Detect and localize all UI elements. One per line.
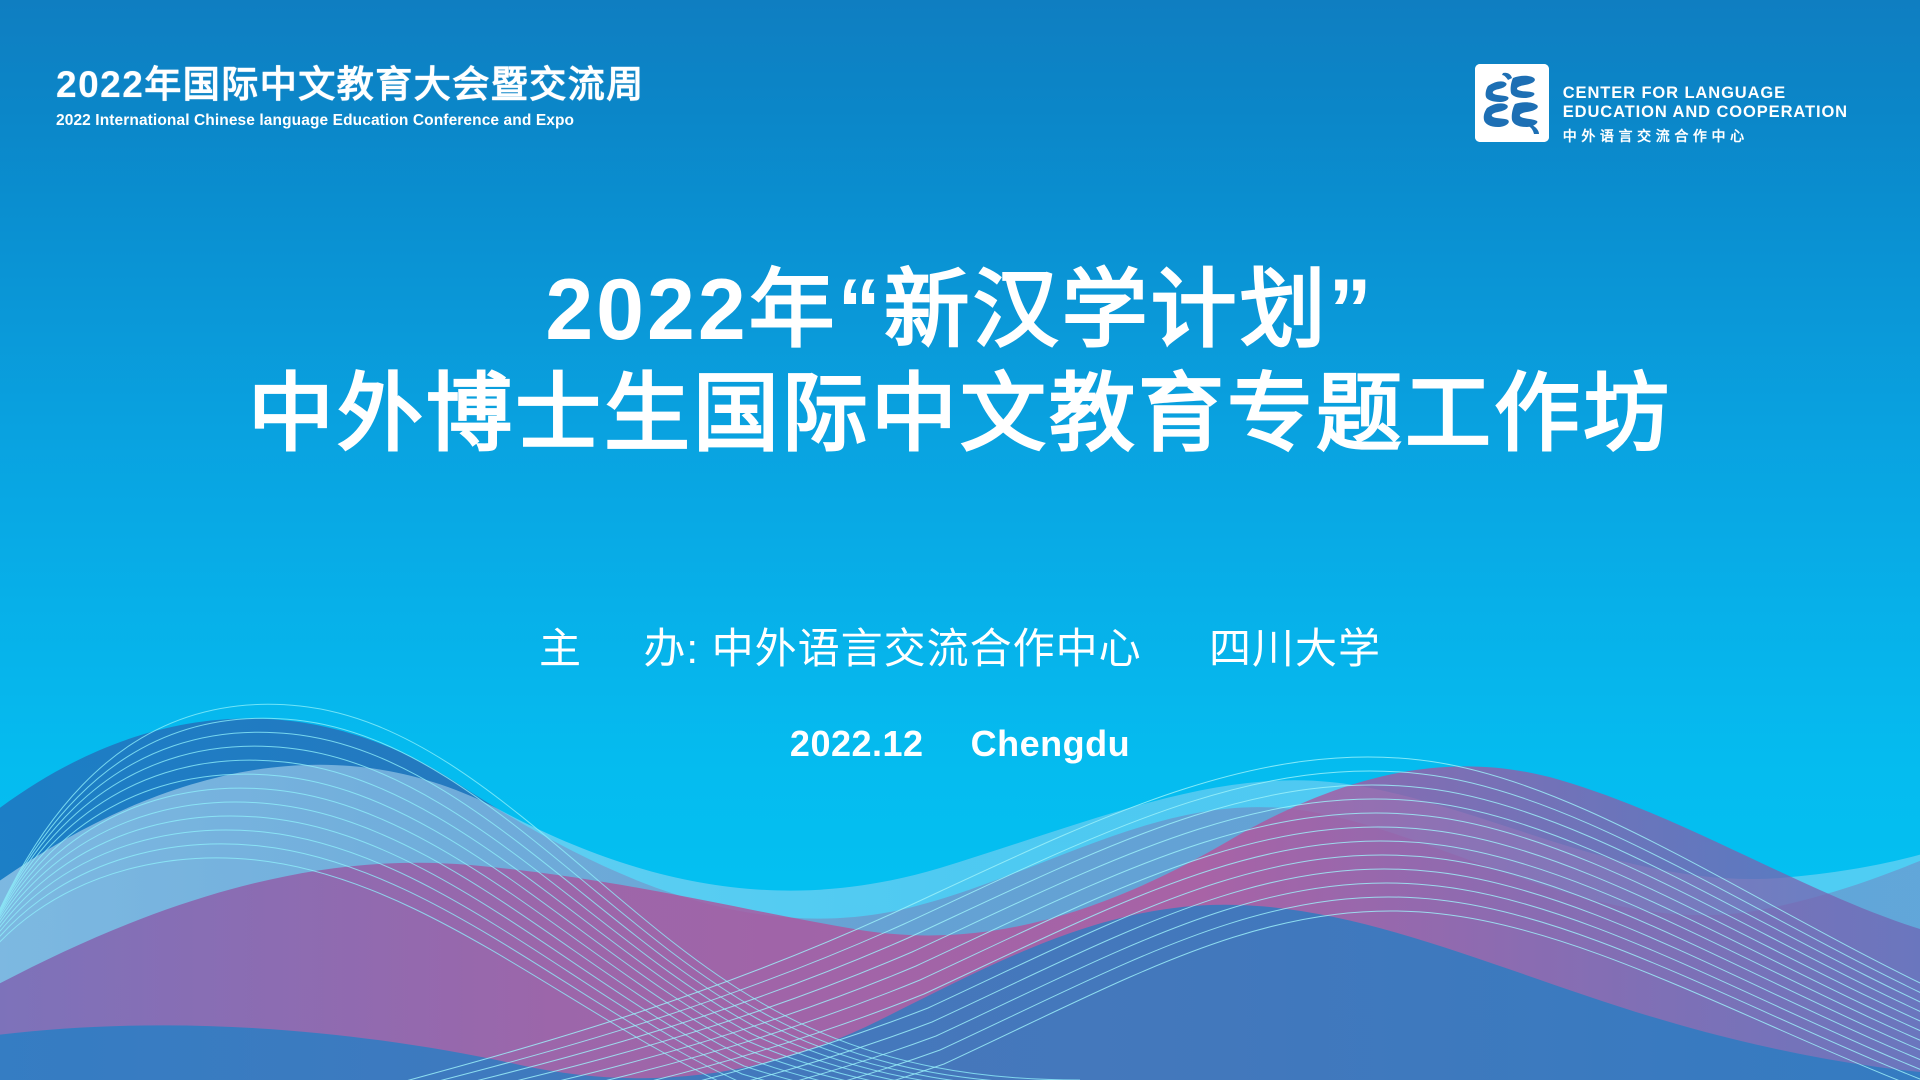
org-name-cn: 中外语言交流合作中心 [1563, 126, 1848, 146]
organizer-line: 主 办: 中外语言交流合作中心 四川大学 [0, 615, 1920, 676]
organizer-label: 主 [539, 625, 582, 672]
event-city: Chengdu [971, 723, 1130, 764]
event-branding: 2022年国际中文教育大会暨交流周 2022 International Chi… [56, 66, 645, 130]
event-title-cn: 2022年国际中文教育大会暨交流周 [56, 66, 645, 105]
poster-title-line-1: 2022年“新汉学计划” [0, 262, 1920, 358]
org-name-en-line2: EDUCATION AND COOPERATION [1563, 103, 1848, 122]
wave-decoration-artwork [0, 610, 1920, 1080]
organizer-name-2: 四川大学 [1209, 625, 1381, 672]
poster-canvas: 2022年国际中文教育大会暨交流周 2022 International Chi… [0, 0, 1920, 1080]
poster-title-line-2: 中外博士生国际中文教育专题工作坊 [0, 366, 1920, 462]
date-city-line: 2022.12 Chengdu [0, 723, 1920, 765]
celc-calligraphy-logo-icon [1475, 64, 1549, 142]
organizer-label-2: 办: [643, 625, 699, 672]
organizer-name-1: 中外语言交流合作中心 [712, 625, 1142, 672]
event-date: 2022.12 [790, 723, 924, 764]
organization-logo: CENTER FOR LANGUAGE EDUCATION AND COOPER… [1475, 64, 1848, 146]
poster-header: 2022年国际中文教育大会暨交流周 2022 International Chi… [0, 0, 1920, 180]
event-title-en: 2022 International Chinese language Educ… [56, 112, 645, 130]
poster-title-block: 2022年“新汉学计划” 中外博士生国际中文教育专题工作坊 [0, 262, 1920, 463]
org-name-en-line1: CENTER FOR LANGUAGE [1563, 84, 1848, 103]
organization-logo-text: CENTER FOR LANGUAGE EDUCATION AND COOPER… [1563, 64, 1848, 146]
